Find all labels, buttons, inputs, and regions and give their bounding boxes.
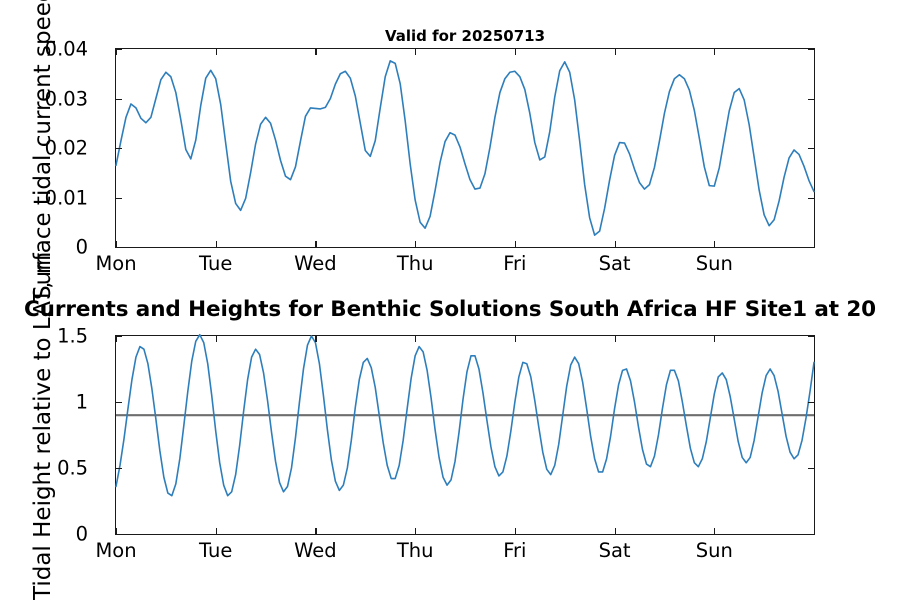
x-tick-top	[415, 49, 416, 55]
x-tick-label-thu: Thu	[397, 541, 434, 561]
x-tick	[116, 528, 117, 534]
x-tick	[216, 241, 217, 247]
x-tick-label-sat: Sat	[599, 254, 631, 274]
x-tick	[315, 528, 316, 534]
y-tick	[116, 468, 122, 469]
series-line-0	[116, 61, 814, 235]
y-tick	[116, 198, 122, 199]
x-tick	[515, 241, 516, 247]
y-tick-label: 1	[76, 392, 88, 412]
plot-line-tidal-height	[116, 336, 814, 534]
x-tick-top	[714, 49, 715, 55]
x-tick-label-wed: Wed	[294, 254, 337, 274]
chart-surface-tidal-current-speed: Valid for 20250713 00.010.020.030.04MonT…	[115, 48, 815, 248]
y-tick	[116, 99, 122, 100]
x-tick	[714, 241, 715, 247]
x-tick-label-thu: Thu	[397, 254, 434, 274]
x-tick-label-sun: Sun	[696, 541, 733, 561]
y-tick-right	[808, 198, 814, 199]
x-tick	[615, 241, 616, 247]
figure-canvas: Surface tidal current speed, kn Tidal He…	[0, 0, 900, 600]
x-tick-label-tue: Tue	[199, 254, 232, 274]
plot-line-current-speed	[116, 49, 814, 247]
x-tick-top	[615, 49, 616, 55]
x-tick-top	[415, 336, 416, 342]
main-title: Currents and Heights for Benthic Solutio…	[24, 297, 876, 322]
x-tick-label-tue: Tue	[199, 541, 232, 561]
y-tick	[116, 148, 122, 149]
chart-tidal-height: 00.511.5MonTueWedThuFriSatSun	[115, 335, 815, 535]
y-tick-label: 0	[76, 237, 88, 257]
y-tick-right	[808, 534, 814, 535]
y-tick-right	[808, 468, 814, 469]
y-tick	[116, 402, 122, 403]
x-tick	[415, 241, 416, 247]
x-tick-top	[116, 49, 117, 55]
x-tick	[515, 528, 516, 534]
y-tick-right	[808, 49, 814, 50]
y-tick-right	[808, 247, 814, 248]
y-tick-label: 0	[76, 524, 88, 544]
x-tick-top	[515, 336, 516, 342]
x-tick-label-fri: Fri	[503, 254, 526, 274]
x-tick-label-mon: Mon	[95, 541, 136, 561]
x-tick-top	[116, 336, 117, 342]
x-tick-top	[216, 49, 217, 55]
y-tick	[116, 534, 122, 535]
y-tick	[116, 247, 122, 248]
x-tick-top	[315, 49, 316, 55]
x-tick-top	[615, 336, 616, 342]
x-tick	[116, 241, 117, 247]
x-tick-top	[216, 336, 217, 342]
y-tick-label: 0.5	[57, 458, 88, 478]
x-tick-label-sat: Sat	[599, 541, 631, 561]
x-tick-top	[315, 336, 316, 342]
y-tick-right	[808, 148, 814, 149]
subplot-title-valid-for: Valid for 20250713	[385, 27, 545, 45]
x-tick	[714, 528, 715, 534]
y-tick-right	[808, 99, 814, 100]
x-tick-top	[714, 336, 715, 342]
x-tick	[315, 241, 316, 247]
x-tick	[615, 528, 616, 534]
x-tick-label-fri: Fri	[503, 541, 526, 561]
x-tick-label-wed: Wed	[294, 541, 337, 561]
x-tick-top	[515, 49, 516, 55]
x-tick	[216, 528, 217, 534]
x-tick	[415, 528, 416, 534]
y-tick-right	[808, 336, 814, 337]
x-tick-label-sun: Sun	[696, 254, 733, 274]
y-tick-right	[808, 402, 814, 403]
y-tick-label: 1.5	[57, 326, 88, 346]
x-tick-label-mon: Mon	[95, 254, 136, 274]
